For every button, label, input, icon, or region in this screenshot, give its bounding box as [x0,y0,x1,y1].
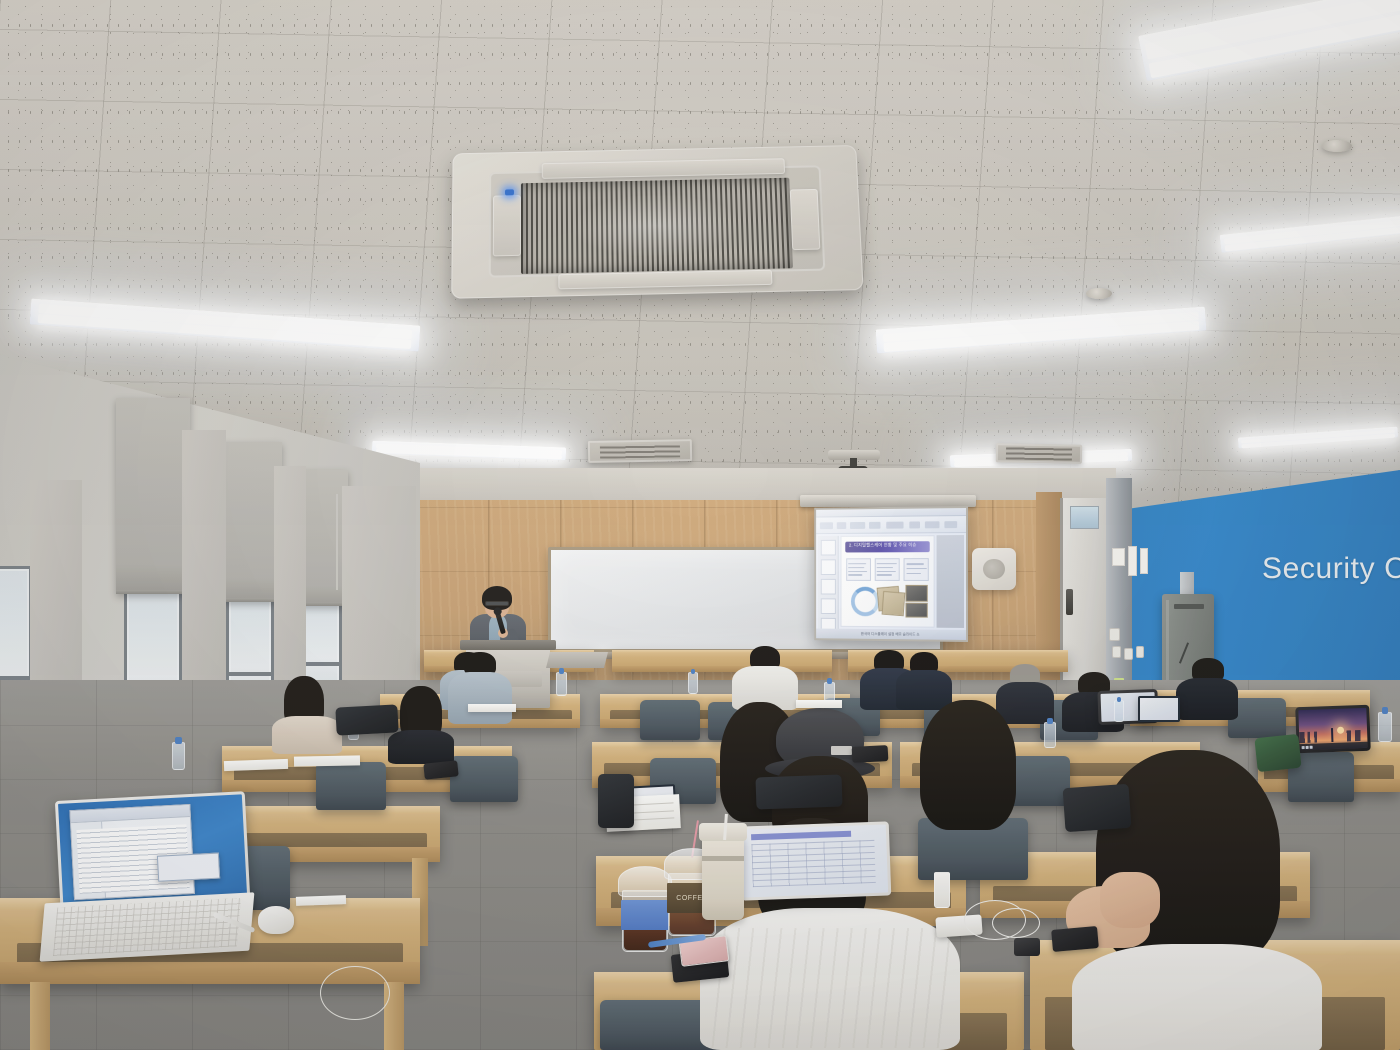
attendee [272,676,342,752]
water-bottle [688,672,698,694]
slide-text-box [846,558,871,581]
back-wall-upper-band [416,468,1116,502]
ceiling-speaker [1322,140,1352,152]
attendee [1176,658,1238,718]
chair[interactable] [450,756,518,802]
laptop-right[interactable] [1295,705,1371,754]
powerpoint-statusbar: 한국어 디스플레이 설정 메모 슬라이드 쇼 [816,629,966,640]
projection-screen-housing [800,495,976,507]
laptop-center[interactable] [739,821,891,900]
chair[interactable] [640,700,700,740]
cup-sleeve [621,900,669,929]
attendee-top [1072,944,1322,1050]
smartphone[interactable] [1051,926,1099,952]
blouse-folds [710,928,950,1048]
laptop-keyboard[interactable] [40,892,255,961]
slide-thumbnail-pane[interactable] [818,536,839,629]
laptop-screen[interactable] [1298,708,1367,750]
powerpoint-ribbon [816,516,966,534]
wall-speaker [972,548,1016,590]
attendee-arm [1100,872,1160,928]
laptop-bag [1063,784,1132,832]
attendee-hair [920,700,1016,830]
paper-sheet [296,895,346,906]
window-blind [220,442,282,602]
power-adapter [1014,938,1040,956]
travel-tumbler [702,836,744,920]
desk-leg [30,982,50,1050]
attendee-torso [1176,678,1238,720]
slide-photo-thumbnail [906,585,928,601]
blind-cord [336,494,338,590]
classroom-photo-scene: 2. 디지털헬스케어 현황 및 주요 이슈 [0,0,1400,1050]
window-titlebar [70,805,190,823]
slide-text-box [904,558,929,581]
attendee-torso [272,716,342,754]
paper-sheet [796,700,842,708]
paper-sheet [468,704,516,712]
laptop-lid [1295,705,1371,754]
chair[interactable] [316,762,386,810]
bag [335,704,398,735]
wall-signage-text: Security Cy [1262,552,1400,586]
slide-title: 2. 디지털헬스케어 현황 및 주요 이슈 [845,541,930,553]
laptop-lid [739,821,891,900]
water-bottle [1044,722,1056,748]
slide-cycle-diagram [851,587,880,617]
glasses-icon [485,601,509,606]
wall-switch[interactable] [1109,628,1120,641]
door-handle[interactable] [1066,589,1073,615]
ac-power-led [505,189,514,195]
ac-louver-left [493,195,522,257]
wall-switch[interactable] [1136,646,1144,658]
slide-stage: 2. 디지털헬스케어 현황 및 주요 이슈 [841,535,935,627]
wall-switch[interactable] [1112,646,1121,658]
cassette-air-conditioner [451,145,863,299]
wall-notice [1112,548,1125,566]
attendee [732,646,798,708]
water-bottle [556,672,567,696]
slide-photo-thumbnail [906,603,928,618]
ac-louver-right [789,189,820,251]
backpack [598,774,634,828]
laptop-screen[interactable] [742,825,888,898]
file-explorer-window[interactable] [69,804,195,900]
ceiling-speaker [1086,288,1112,299]
wall-notice [1128,546,1137,576]
desk [612,650,832,672]
window-blind [116,398,190,594]
wall-notice [1140,548,1148,574]
charging-cable [320,966,390,1020]
attendee-torso [448,672,512,724]
door-window [1070,506,1099,529]
charging-cable [992,908,1040,938]
water-bottle [1114,700,1124,722]
tablet-device[interactable] [1138,696,1180,722]
ceiling-air-vent [996,443,1082,463]
white-bottle [934,872,950,908]
water-bottle [172,742,185,770]
attendee-torso [388,730,454,764]
lectern-side-table [546,652,608,668]
modal-dialog[interactable] [157,852,221,881]
ceiling-air-vent [588,439,692,463]
ac-grille [521,178,792,274]
projection-screen: 2. 디지털헬스케어 현황 및 주요 이슈 [814,506,968,642]
paper-sheet [294,755,360,766]
wall-switch[interactable] [1124,648,1133,660]
slide-text-box [874,558,900,581]
tablet-screen[interactable] [1140,698,1178,720]
bag [755,775,842,810]
backpack-green [1254,734,1301,772]
powerpoint-side-panel [937,535,964,628]
computer-mouse[interactable] [258,906,294,934]
slide-photo-thumbnail [882,591,906,616]
smartphone[interactable] [852,745,889,763]
water-bottle [1378,712,1392,742]
